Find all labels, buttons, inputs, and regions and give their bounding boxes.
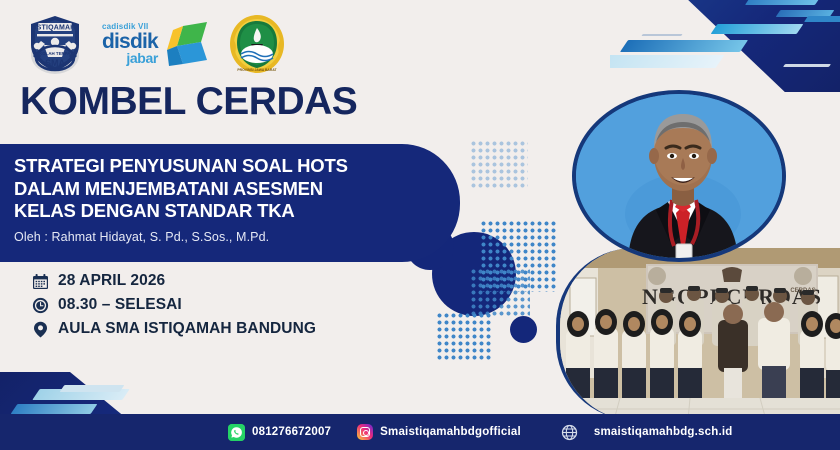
jawa-barat-emblem: PROVINSI JAWA BARAT	[227, 13, 287, 75]
whatsapp-number: 081276672007	[252, 426, 331, 438]
whatsapp-icon	[228, 424, 245, 441]
detail-location-text: AULA SMA ISTIQAMAH BANDUNG	[58, 320, 316, 338]
contact-whatsapp[interactable]: 081276672007	[228, 424, 331, 441]
group-photo: NGOPI CERDAS CERDAS	[556, 248, 840, 420]
decorative-circle-small	[510, 316, 537, 343]
disdik-main-text: disdik	[102, 32, 158, 52]
event-details: 28 APRIL 2026 08.30 – SELESAI AULA SMA I…	[32, 272, 316, 344]
svg-text:ISTIQAMAH: ISTIQAMAH	[34, 24, 75, 31]
detail-date-text: 28 APRIL 2026	[58, 272, 165, 290]
clock-icon	[32, 297, 49, 314]
svg-text:PROVINSI JAWA BARAT: PROVINSI JAWA BARAT	[237, 68, 277, 72]
disdik-sub-text: jabar	[102, 51, 158, 65]
disdik-jabar-logo: cadisdik VII disdik jabar	[102, 20, 213, 68]
detail-time-text: 08.30 – SELESAI	[58, 296, 182, 314]
decorative-halftone-faint	[470, 140, 528, 188]
decorative-halftone-lower	[436, 312, 492, 360]
footer-contact-bar: 081276672007 Smaistiqamahbdgofficial sma…	[0, 414, 840, 450]
event-poster: ISTIQAMAH SEKOLAH TERPADU SMA cadisdik V…	[0, 0, 840, 450]
svg-text:SMA: SMA	[45, 58, 66, 68]
disdik-mark-icon	[163, 20, 213, 68]
detail-row-time: 08.30 – SELESAI	[32, 296, 316, 314]
contact-website[interactable]: smaistiqamahbdg.sch.id	[561, 424, 733, 441]
website-url: smaistiqamahbdg.sch.id	[594, 426, 733, 438]
decorative-stripes-top-right	[610, 0, 840, 92]
speaker-portrait	[572, 90, 786, 262]
theme-line-3: KELAS DENGAN STANDAR TKA	[14, 200, 295, 221]
location-pin-icon	[32, 321, 49, 338]
calendar-icon	[32, 273, 49, 290]
detail-row-date: 28 APRIL 2026	[32, 272, 316, 290]
decorative-halftone-mid	[470, 268, 530, 316]
contact-instagram[interactable]: Smaistiqamahbdgofficial	[357, 424, 521, 440]
theme-panel: STRATEGI PENYUSUNAN SOAL HOTS DALAM MENJ…	[0, 144, 460, 262]
theme-heading: STRATEGI PENYUSUNAN SOAL HOTS DALAM MENJ…	[14, 155, 460, 223]
instagram-handle: Smaistiqamahbdgofficial	[380, 426, 521, 438]
speaker-name: Oleh : Rahmat Hidayat, S. Pd., S.Sos., M…	[14, 230, 460, 244]
theme-line-2: DALAM MENJEMBATANI ASESMEN	[14, 178, 323, 199]
istiqamah-sma-logo: ISTIQAMAH SEKOLAH TERPADU SMA	[22, 11, 88, 77]
page-title: KOMBEL CERDAS	[20, 82, 357, 121]
logo-row: ISTIQAMAH SEKOLAH TERPADU SMA cadisdik V…	[22, 8, 287, 80]
detail-row-location: AULA SMA ISTIQAMAH BANDUNG	[32, 320, 316, 338]
instagram-icon	[357, 424, 373, 440]
globe-icon	[561, 424, 578, 441]
theme-line-1: STRATEGI PENYUSUNAN SOAL HOTS	[14, 155, 348, 176]
